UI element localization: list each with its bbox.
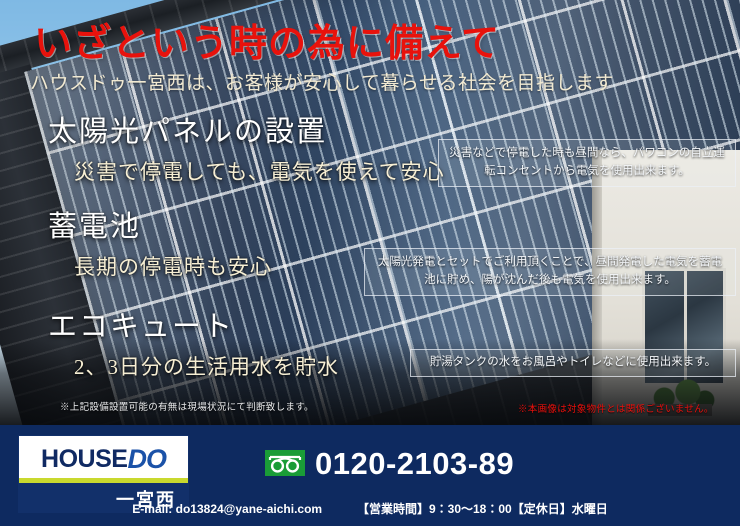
feature-title: エコキュート (48, 303, 339, 345)
subheadline: ハウスドゥ一宮西は、お客様が安心して暮らせる社会を目指します (30, 68, 614, 95)
free-dial-icon (265, 450, 305, 476)
callout-ecocute: 貯湯タンクの水をお風呂やトイレなどに使用出来ます。 (410, 349, 736, 377)
email-text[interactable]: E-mail: do13824@yane-aichi.com (132, 502, 322, 516)
feature-title: 蓄電池 (48, 203, 272, 245)
feature-ecocute: エコキュート 2、3日分の生活用水を貯水 (48, 303, 339, 381)
business-hours-text: 【営業時間】9：30〜18：00【定休日】水曜日 (357, 502, 608, 516)
feature-title: 太陽光パネルの設置 (48, 108, 445, 150)
feature-subtitle: 災害で停電しても、電気を使えて安心 (74, 156, 445, 186)
logo-house-text: HOUSE (41, 445, 127, 474)
headline: いざという時の為に備えて (34, 12, 500, 67)
disclaimer-image: ※本画像は対象物件とは関係ございません。 (518, 401, 714, 415)
feature-subtitle: 2、3日分の生活用水を貯水 (74, 351, 339, 381)
callout-solar-panel: 災害などで停電した時も昼間なら、パワコンの自立運転コンセントから電気を使用出来ま… (438, 139, 736, 187)
disclaimer-equipment: ※上記設備設置可能の有無は現場状況にて判断致します。 (60, 399, 314, 413)
logo-do-text: DO (127, 444, 166, 475)
feature-subtitle: 長期の停電時も安心 (74, 251, 272, 281)
feature-solar-panel: 太陽光パネルの設置 災害で停電しても、電気を使えて安心 (48, 108, 445, 186)
free-dial-number[interactable]: 0120-2103-89 (315, 446, 514, 482)
solar-flyer: いざという時の為に備えて ハウスドゥ一宮西は、お客様が安心して暮らせる社会を目指… (0, 0, 740, 526)
feature-storage-battery: 蓄電池 長期の停電時も安心 (48, 203, 272, 281)
callout-storage-battery: 太陽光発電とセットでご利用頂くことで、昼間発電した電気を蓄電池に貯め、陽が沈んだ… (364, 248, 736, 296)
contact-row: E-mail: do13824@yane-aichi.com 【営業時間】9：3… (0, 500, 740, 518)
logo-wordmark: HOUSEDO (19, 436, 188, 483)
